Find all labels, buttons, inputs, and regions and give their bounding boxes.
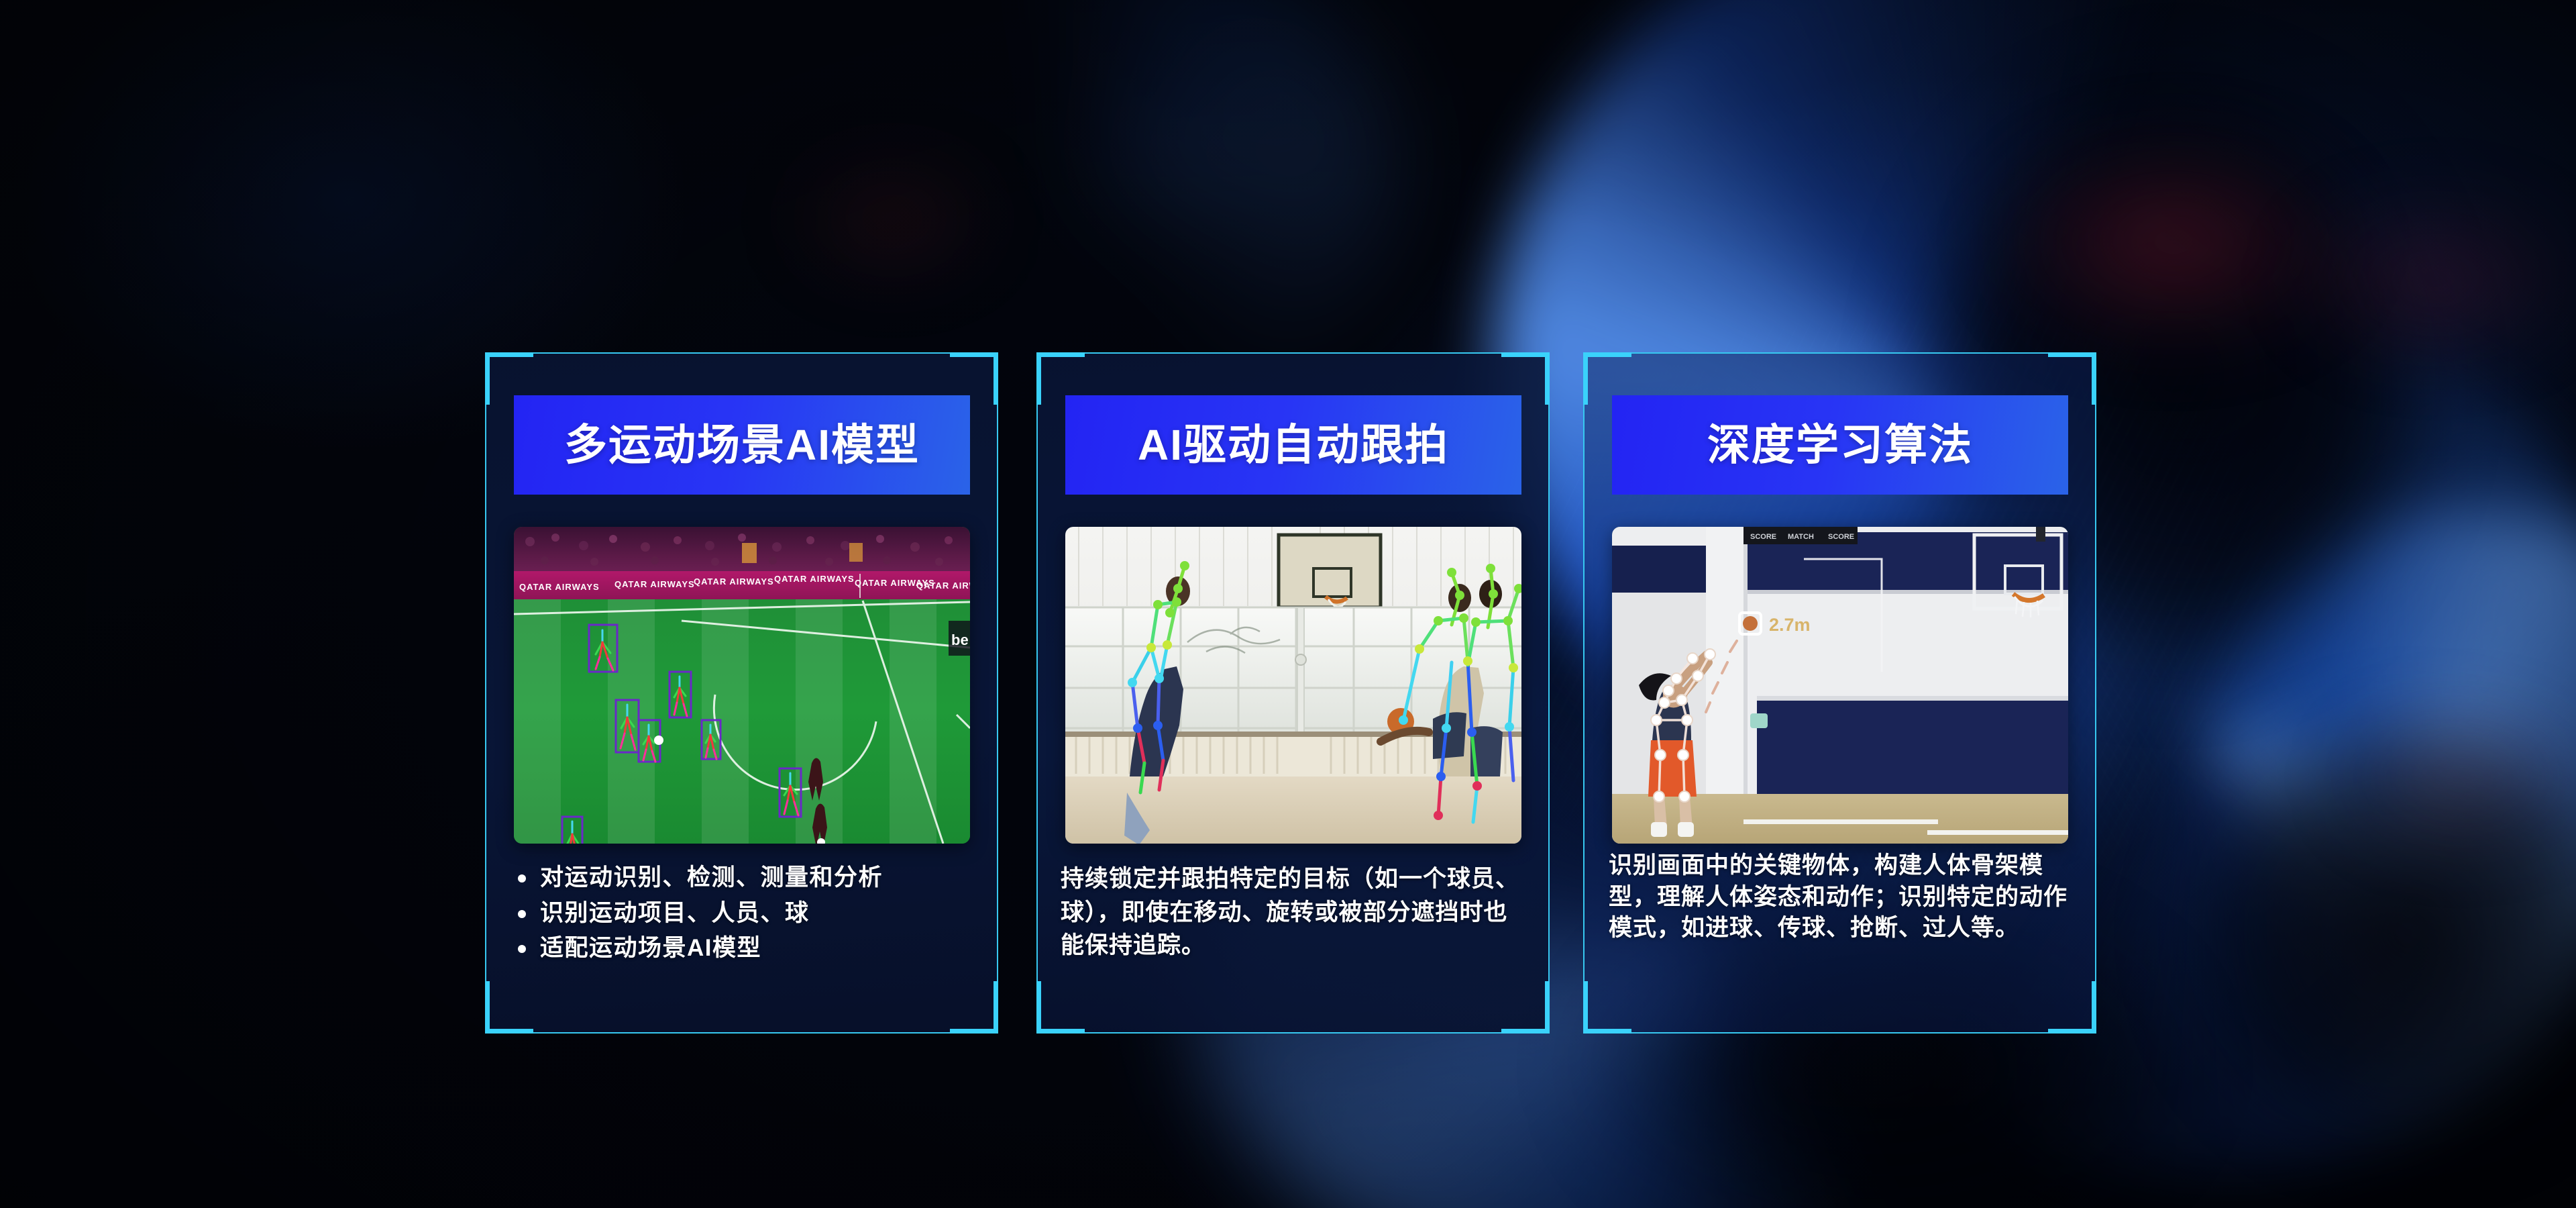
svg-text:QATAR AIRWAYS: QATAR AIRWAYS xyxy=(694,576,774,587)
card-body: 持续锁定并跟拍特定的目标（如一个球员、球），即使在移动、旋转或被部分遮挡时也能保… xyxy=(1061,862,1527,962)
basketball-shot-height-tracking-image: SCOREMATCHSCORE xyxy=(1612,527,2068,844)
soccer-field-player-detection-image: QATAR AIRWAYS QATAR AIRWAYS QATAR AIRWAY… xyxy=(514,527,970,844)
height-measurement-label: 2.7m xyxy=(1769,615,1811,635)
card-body: 对运动识别、检测、测量和分析 识别运动项目、人员、球 适配运动场景AI模型 xyxy=(509,862,975,968)
feature-card-deep-learning-algorithm[interactable]: 深度学习算法 xyxy=(1583,352,2096,1034)
card-title-text: 深度学习算法 xyxy=(1707,423,1973,466)
feature-bullet-list: 对运动识别、检测、测量和分析 识别运动项目、人员、球 适配运动场景AI模型 xyxy=(509,862,975,964)
feature-card-row: 多运动场景AI模型 xyxy=(0,0,2576,1208)
svg-text:QATAR AIRWAYS: QATAR AIRWAYS xyxy=(519,582,600,592)
card-body: 识别画面中的关键物体，构建人体骨架模型，理解人体姿态和动作；识别特定的动作模式，… xyxy=(1609,850,2076,944)
svg-text:SCORE: SCORE xyxy=(1828,533,1854,541)
svg-text:QATAR AIRWAYS: QATAR AIRWAYS xyxy=(774,574,855,584)
card-title-banner: AI驱动自动跟拍 xyxy=(1065,395,1521,495)
list-item: 对运动识别、检测、测量和分析 xyxy=(509,862,975,894)
indoor-basketball-pose-skeleton-image xyxy=(1065,527,1521,844)
list-item: 适配运动场景AI模型 xyxy=(509,933,975,964)
svg-text:SCORE: SCORE xyxy=(1750,533,1776,541)
card-description: 识别画面中的关键物体，构建人体骨架模型，理解人体姿态和动作；识别特定的动作模式，… xyxy=(1609,850,2076,944)
card-description: 持续锁定并跟拍特定的目标（如一个球员、球），即使在移动、旋转或被部分遮挡时也能保… xyxy=(1061,862,1527,962)
feature-card-multi-sport-ai-model[interactable]: 多运动场景AI模型 xyxy=(485,352,998,1034)
svg-text:QATAR AIRW: QATAR AIRW xyxy=(916,581,970,591)
slide-canvas: 多运动场景AI模型 xyxy=(0,0,2576,1208)
svg-text:QATAR AIRWAYS: QATAR AIRWAYS xyxy=(614,579,695,589)
list-item: 识别运动项目、人员、球 xyxy=(509,898,975,929)
card-title-banner: 多运动场景AI模型 xyxy=(514,395,970,495)
card-title-banner: 深度学习算法 xyxy=(1612,395,2068,495)
svg-text:MATCH: MATCH xyxy=(1788,533,1814,541)
feature-card-ai-auto-tracking[interactable]: AI驱动自动跟拍 xyxy=(1036,352,1550,1034)
svg-text:be: be xyxy=(951,632,969,648)
card-title-text: 多运动场景AI模型 xyxy=(564,423,920,466)
card-title-text: AI驱动自动跟拍 xyxy=(1138,423,1449,466)
